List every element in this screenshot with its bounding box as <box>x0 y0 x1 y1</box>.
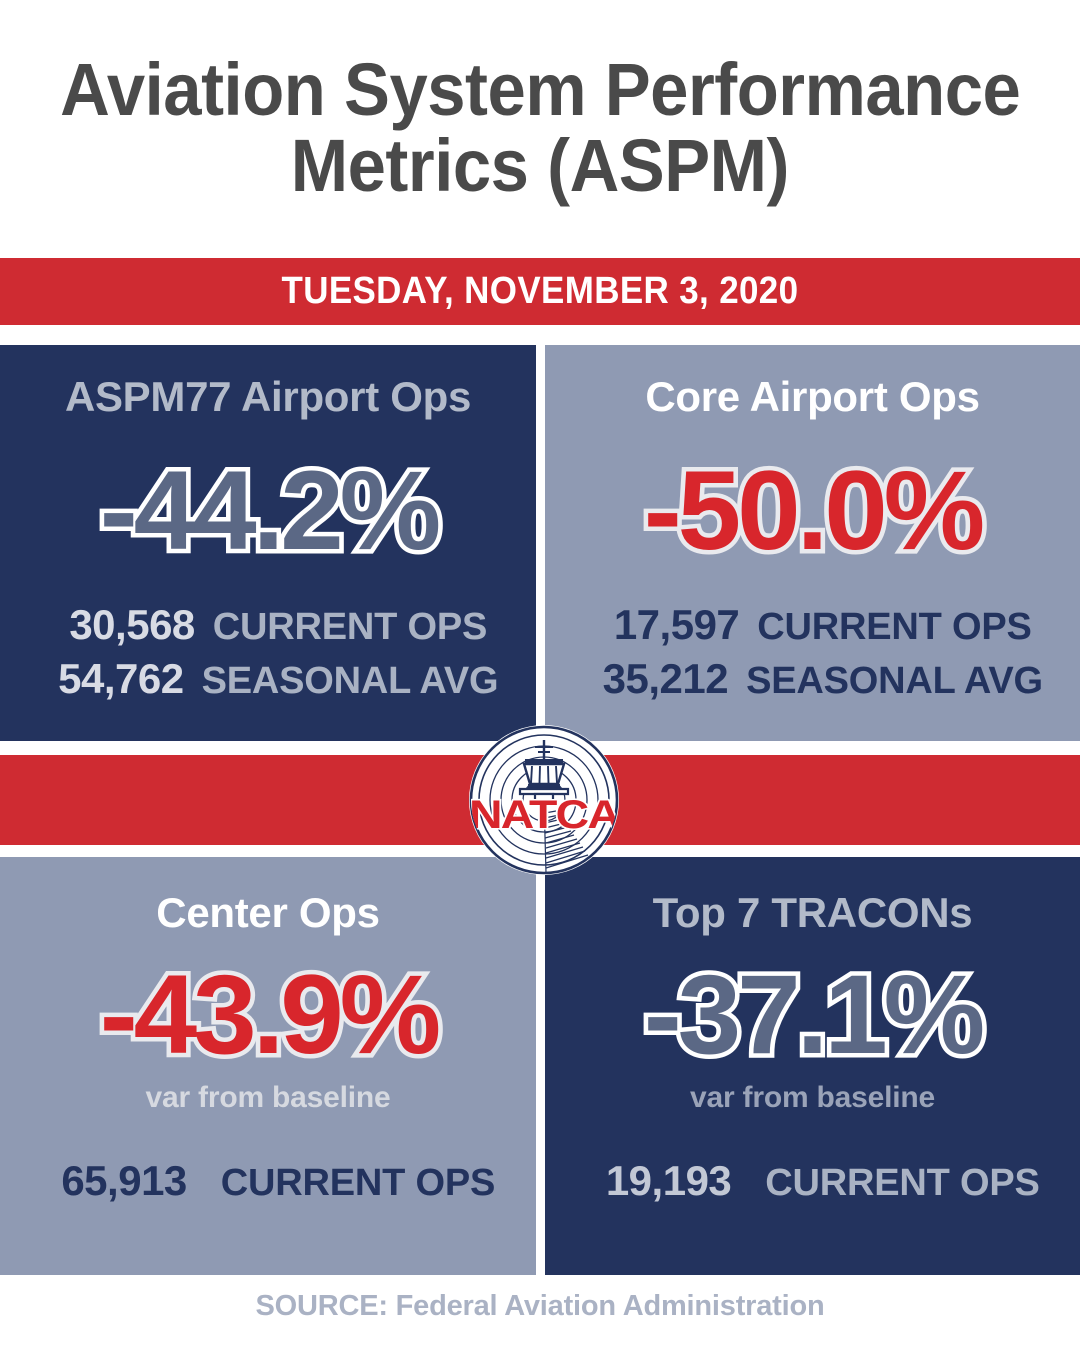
stat-value: 30,568 <box>49 601 195 649</box>
panel-percent-value: -44.2% <box>99 455 436 567</box>
natca-logo-icon: NATCA <box>464 718 624 882</box>
natca-logo: NATCA <box>464 718 624 882</box>
stat-row: 65,913 CURRENT OPS <box>41 1157 495 1205</box>
stat-value: 19,193 <box>585 1157 731 1205</box>
panel-stat-rows: 19,193 CURRENT OPS <box>545 1157 1080 1211</box>
stat-row: 19,193 CURRENT OPS <box>585 1157 1039 1205</box>
page-title-line-2: Metrics (ASPM) <box>291 128 789 203</box>
panel-heading: Top 7 TRACONs <box>653 889 973 937</box>
date-banner: TUESDAY, NOVEMBER 3, 2020 <box>0 258 1080 325</box>
panel-caption: var from baseline <box>145 1081 390 1115</box>
metric-panel-top-7-tracons: Top 7 TRACONs -37.1% var from baseline 1… <box>545 857 1080 1275</box>
stat-label: SEASONAL AVG <box>746 660 1043 703</box>
page-title-line-1: Aviation System Performance <box>60 52 1020 127</box>
stat-row: 30,568 CURRENT OPS <box>49 601 487 649</box>
metric-panel-center-ops: Center Ops -43.9% var from baseline 65,9… <box>0 857 536 1275</box>
stat-label: SEASONAL AVG <box>202 660 499 703</box>
page-title-block: Aviation System Performance Metrics (ASP… <box>0 0 1080 255</box>
panel-heading: Core Airport Ops <box>645 373 979 421</box>
stat-label: CURRENT OPS <box>765 1162 1039 1205</box>
stat-value: 65,913 <box>41 1157 187 1205</box>
panel-percent-value: -37.1% <box>644 959 981 1071</box>
stat-label: CURRENT OPS <box>221 1162 495 1205</box>
panel-stat-rows: 30,568 CURRENT OPS 54,762 SEASONAL AVG <box>0 601 536 709</box>
metric-panel-core-airport-ops: Core Airport Ops -50.0% 17,597 CURRENT O… <box>545 345 1080 741</box>
panel-stat-rows: 65,913 CURRENT OPS <box>0 1157 536 1211</box>
source-attribution: SOURCE: Federal Aviation Administration <box>0 1290 1080 1323</box>
metric-panel-aspm77-airport-ops: ASPM77 Airport Ops -44.2% 30,568 CURRENT… <box>0 345 536 741</box>
panel-heading: Center Ops <box>156 889 379 937</box>
stat-row: 35,212 SEASONAL AVG <box>582 655 1043 703</box>
panel-percent-value: -43.9% <box>99 959 436 1071</box>
panel-caption: var from baseline <box>690 1081 935 1115</box>
stat-label: CURRENT OPS <box>213 606 487 649</box>
panel-percent-value: -50.0% <box>644 455 981 567</box>
date-text: TUESDAY, NOVEMBER 3, 2020 <box>282 270 799 313</box>
stat-value: 17,597 <box>593 601 739 649</box>
stat-row: 17,597 CURRENT OPS <box>593 601 1031 649</box>
logo-wordmark: NATCA <box>469 793 621 837</box>
stat-row: 54,762 SEASONAL AVG <box>38 655 499 703</box>
stat-value: 35,212 <box>582 655 728 703</box>
panel-stat-rows: 17,597 CURRENT OPS 35,212 SEASONAL AVG <box>545 601 1080 709</box>
stat-label: CURRENT OPS <box>757 606 1031 649</box>
panel-heading: ASPM77 Airport Ops <box>65 373 471 421</box>
stat-value: 54,762 <box>38 655 184 703</box>
